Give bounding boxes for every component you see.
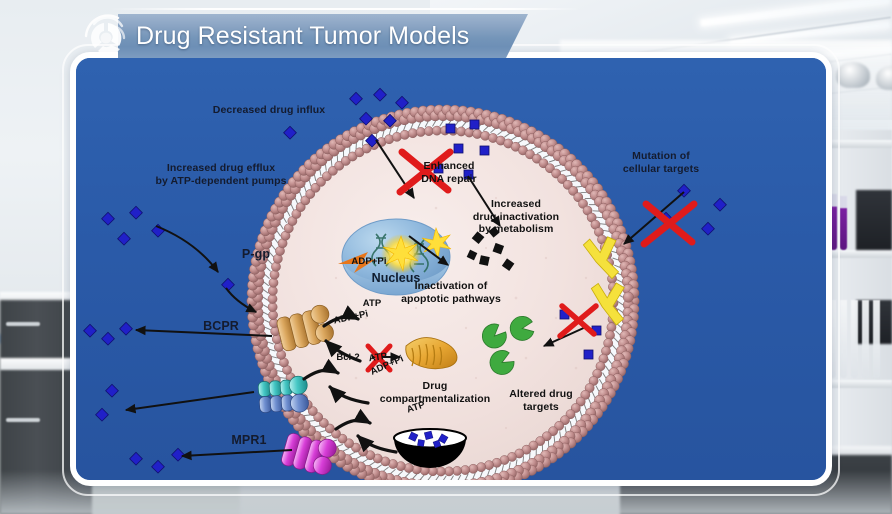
content-panel: Nucleus xyxy=(76,58,826,480)
label-line-2: drug inactivation xyxy=(446,211,586,224)
label-increased-drug-efflux: Increased drug efflux by ATP-dependent p… xyxy=(126,162,316,187)
label-adp-pgp: ADP+Pi xyxy=(344,256,394,267)
label-mutation-cellular-targets: Mutation of cellular targets xyxy=(596,150,726,175)
label-line-1: Increased xyxy=(446,198,586,211)
header-rail xyxy=(110,8,580,10)
test-tube-clear-3 xyxy=(840,300,847,378)
cabinet-handle-2 xyxy=(6,418,40,422)
label-line-1: Mutation of xyxy=(596,150,726,163)
hood-lamp-4 xyxy=(876,66,892,90)
hood-lamp-3 xyxy=(836,62,870,88)
label-line-2: by ATP-dependent pumps xyxy=(126,175,316,188)
label-line-1: Inactivation of xyxy=(366,280,536,293)
screenshot-root: Drug Resistant Tumor Models xyxy=(0,0,892,514)
drug-resistance-cell-diagram: Nucleus xyxy=(76,58,826,480)
label-pump-mpr1: MPR1 xyxy=(214,434,284,447)
swirl-circle-logo-icon xyxy=(78,10,134,66)
label-pump-bcpr: BCPR xyxy=(186,320,256,333)
label-line-1: Increased drug efflux xyxy=(126,162,316,175)
label-decreased-drug-influx: Decreased drug influx xyxy=(184,104,354,117)
label-line-2: cellular targets xyxy=(596,163,726,176)
test-tube-clear-4 xyxy=(851,300,858,378)
label-line-1: Enhanced xyxy=(394,160,504,173)
label-line-2: DNA repair xyxy=(394,173,504,186)
label-line-3: by metabolism xyxy=(446,223,586,236)
red-x-mutation xyxy=(644,204,694,244)
test-tube-clear-5 xyxy=(862,300,869,378)
label-enhanced-dna-repair: Enhanced DNA repair xyxy=(394,160,504,185)
shelf-backing-1 xyxy=(856,190,892,250)
test-tube-purple-3 xyxy=(840,196,847,250)
label-line-1: Drug xyxy=(360,380,510,393)
test-tube-clear-6 xyxy=(873,300,880,378)
page-title: Drug Resistant Tumor Models xyxy=(136,14,469,58)
label-pump-pgp: P-gp xyxy=(226,248,286,261)
bcl2-label: Bcl-2 xyxy=(336,352,359,363)
cell-illustration: Nucleus xyxy=(76,58,826,480)
cabinet-handle-1 xyxy=(6,322,40,326)
label-increased-drug-inactivation: Increased drug inactivation by metabolis… xyxy=(446,198,586,236)
